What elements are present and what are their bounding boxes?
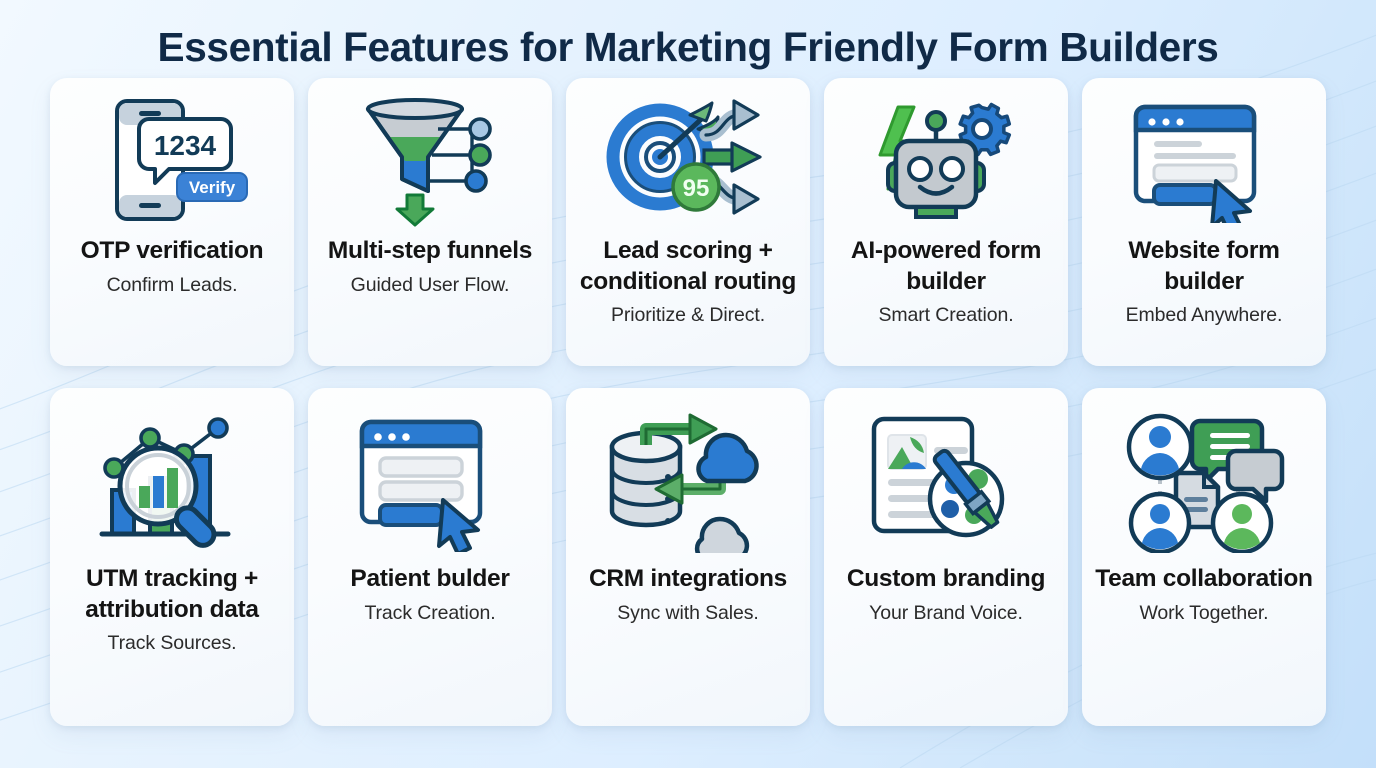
magnifier-chart-icon [88,402,256,562]
feature-card-patient-bulder[interactable]: Patient bulder Track Creation. [308,388,552,726]
card-subtitle: Track Creation. [364,602,495,625]
card-subtitle: Track Sources. [108,632,237,655]
card-title: Custom branding [845,564,1047,595]
feature-card-grid: 1234 Verify OTP verification Confirm Lea… [50,78,1326,768]
card-title: Website form builder [1090,236,1318,297]
card-subtitle: Guided User Flow. [351,274,510,297]
page-title: Essential Features for Marketing Friendl… [56,0,1319,78]
funnel-steps-icon [350,92,510,230]
card-title: CRM integrations [587,564,789,595]
card-subtitle: Embed Anywhere. [1126,304,1283,327]
team-avatars-chat-icon [1118,402,1290,562]
card-title: Patient bulder [348,564,511,595]
robot-gear-icon [866,92,1026,230]
card-title: AI-powered form builder [832,236,1060,297]
browser-form-cursor-icon [350,402,510,562]
database-cloud-sync-icon [602,402,774,562]
card-subtitle: Work Together. [1139,602,1268,625]
feature-card-ai-form-builder[interactable]: AI-powered form builder Smart Creation. [824,78,1068,366]
feature-card-multi-step-funnels[interactable]: Multi-step funnels Guided User Flow. [308,78,552,366]
svg-text:1234: 1234 [154,130,217,161]
card-subtitle: Prioritize & Direct. [611,304,765,327]
card-subtitle: Confirm Leads. [107,274,238,297]
phone-otp-icon: 1234 Verify [87,92,257,230]
card-title: Lead scoring + conditional routing [574,236,802,297]
feature-card-crm-integrations[interactable]: CRM integrations Sync with Sales. [566,388,810,726]
svg-text:Verify: Verify [189,178,236,197]
infographic-page: Essential Features for Marketing Friendl… [0,0,1376,768]
feature-card-utm-tracking[interactable]: UTM tracking + attribution data Track So… [50,388,294,726]
feature-card-website-form-builder[interactable]: Website form builder Embed Anywhere. [1082,78,1326,366]
target-routing-icon: 95 [598,92,778,230]
document-palette-brush-icon [862,402,1030,562]
card-title: UTM tracking + attribution data [58,564,286,625]
card-title: Multi-step funnels [326,236,534,267]
card-title: Team collaboration [1093,564,1314,595]
browser-form-cursor-icon [1124,92,1284,230]
feature-card-lead-scoring[interactable]: 95 Lead scoring + conditional routing Pr… [566,78,810,366]
card-subtitle: Sync with Sales. [617,602,758,625]
svg-text:95: 95 [683,175,710,202]
infographic-content: Essential Features for Marketing Friendl… [0,0,1376,768]
card-subtitle: Smart Creation. [878,304,1013,327]
card-title: OTP verification [79,236,266,267]
feature-card-otp-verification[interactable]: 1234 Verify OTP verification Confirm Lea… [50,78,294,366]
feature-card-team-collaboration[interactable]: Team collaboration Work Together. [1082,388,1326,726]
feature-card-custom-branding[interactable]: Custom branding Your Brand Voice. [824,388,1068,726]
card-subtitle: Your Brand Voice. [869,602,1023,625]
